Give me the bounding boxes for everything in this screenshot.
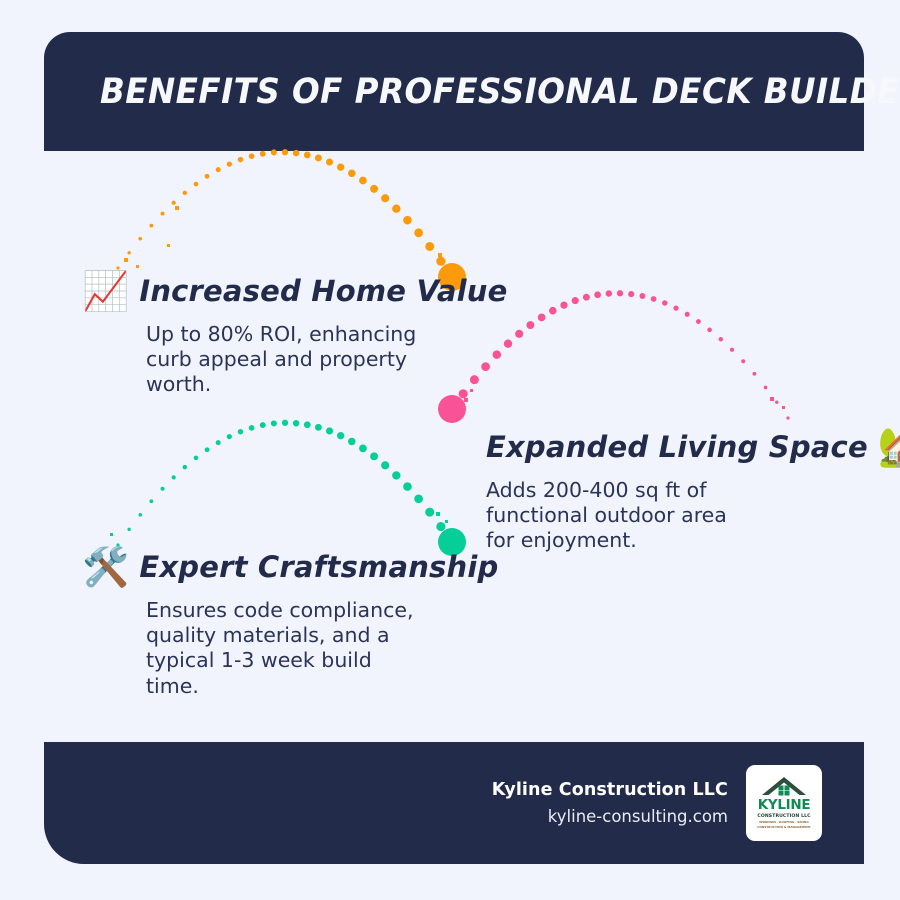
arc-dot (149, 224, 153, 228)
confetti-speck (124, 258, 128, 262)
benefit-title: Increased Home Value (139, 274, 507, 308)
arc-dot (348, 170, 356, 178)
confetti-speck (445, 520, 448, 523)
arc-dot (161, 212, 165, 216)
arc-dot (326, 427, 333, 434)
arc-dot (149, 499, 153, 503)
benefit-description: Ensures code compliance, quality materia… (146, 598, 431, 699)
arc-dot (560, 301, 567, 308)
arc-dot (392, 471, 400, 479)
confetti-speck (464, 398, 468, 402)
arc-dot (348, 438, 356, 446)
arc-dot (183, 465, 187, 469)
footer-banner: Kyline Construction LLC kyline-consultin… (44, 742, 864, 864)
footer-text-group: Kyline Construction LLC kyline-consultin… (492, 780, 728, 826)
arc-dot (315, 424, 322, 431)
arc-dot (194, 456, 199, 461)
arc-dot (572, 297, 579, 304)
arc-dot (425, 508, 434, 517)
arc-dot (304, 152, 311, 159)
arc-dot (205, 447, 210, 452)
header-banner: BENEFITS OF PROFESSIONAL DECK BUILDERS (44, 32, 864, 151)
arc-dot (370, 452, 378, 460)
footer-content: Kyline Construction LLC kyline-consultin… (492, 742, 822, 864)
website-url[interactable]: kyline-consulting.com (492, 807, 728, 826)
confetti-speck (167, 244, 170, 247)
arc-dot (337, 163, 344, 170)
arc-dot (370, 185, 378, 193)
logo-name: KYLINE (758, 799, 811, 813)
arc-dot (673, 305, 678, 310)
logo-tagline: CONSTRUCTION & MANAGEMENT (757, 826, 811, 830)
arc-dot (515, 330, 523, 338)
arc-dot (651, 296, 657, 302)
arc-dot (775, 401, 778, 404)
benefit-description: Up to 80% ROI, enhancing curb appeal and… (146, 322, 421, 398)
arc-dot (381, 194, 389, 202)
confetti-speck (175, 206, 179, 210)
arc-dot (359, 177, 367, 185)
arc-dot (249, 425, 255, 431)
arc-orange (116, 149, 466, 291)
arc-dot (227, 161, 232, 166)
infographic-canvas: BENEFITS OF PROFESSIONAL DECK BUILDERS 📈… (0, 0, 900, 900)
arc-dot (381, 461, 389, 469)
arc-dot (538, 313, 546, 321)
arc-dot (359, 444, 367, 452)
arc-dot (707, 328, 712, 333)
benefit-title: Expert Craftsmanship (139, 550, 498, 584)
benefit-block-expanded-living-space: Expanded Living Space 🏡 Adds 200-400 sq … (486, 428, 900, 554)
benefit-description: Adds 200-400 sq ft of functional outdoor… (486, 478, 756, 554)
chart-increasing-icon: 📈 (82, 272, 129, 310)
company-name: Kyline Construction LLC (492, 780, 728, 800)
arc-dot (249, 153, 255, 159)
confetti-speck (770, 397, 774, 401)
arc-dot (293, 420, 300, 427)
arc-pink-end-marker (438, 395, 466, 423)
arc-dot (326, 158, 333, 165)
arc-dot (628, 291, 634, 297)
benefit-heading: 🛠️ Expert Craftsmanship (82, 548, 498, 586)
arc-dot (161, 487, 165, 491)
arc-dot (719, 337, 723, 341)
arc-dot (183, 191, 187, 195)
arc-dot (194, 182, 199, 187)
arc-dot (436, 522, 445, 531)
hammer-and-wrench-icon: 🛠️ (82, 548, 129, 586)
arc-dot (414, 228, 423, 237)
arc-dot (662, 300, 667, 305)
house-with-garden-icon: 🏡 (878, 428, 900, 466)
arc-dot (172, 201, 176, 205)
arc-dot (315, 155, 322, 162)
arc-dot (685, 312, 690, 317)
arc-dot (403, 216, 412, 225)
arc-dot (639, 293, 645, 299)
arc-dot (238, 157, 243, 162)
arc-dot (414, 494, 423, 503)
arc-dot (337, 432, 344, 439)
arc-dot (436, 257, 445, 266)
arc-dot (271, 420, 277, 426)
confetti-speck (438, 253, 442, 257)
arc-dot (752, 372, 756, 376)
arc-dot (260, 422, 266, 428)
confetti-speck (436, 512, 440, 516)
arc-dot (696, 319, 701, 324)
page-title: BENEFITS OF PROFESSIONAL DECK BUILDERS (100, 72, 900, 112)
arc-dot (526, 321, 534, 329)
arc-dot (583, 294, 590, 301)
page-title-text: BENEFITS OF PROFESSIONAL DECK BUILDERS (100, 72, 900, 112)
arc-dot (617, 290, 623, 296)
confetti-speck (110, 533, 113, 536)
benefit-block-increased-home-value: 📈 Increased Home Value Up to 80% ROI, en… (82, 272, 507, 398)
company-logo: KYLINE CONSTRUCTION LLC WINDOWS · ROOFIN… (746, 765, 822, 841)
arc-dot (260, 151, 266, 157)
arc-dot (549, 307, 557, 315)
arc-dot (425, 242, 434, 251)
arc-dot (172, 475, 176, 479)
arc-teal (116, 420, 466, 556)
arc-dot (216, 440, 221, 445)
confetti-speck (136, 265, 139, 268)
benefit-block-expert-craftsmanship: 🛠️ Expert Craftsmanship Ensures code com… (82, 548, 498, 699)
arc-dot (403, 482, 412, 491)
arc-dot (138, 237, 142, 241)
arc-dot (764, 386, 768, 390)
arc-dot (741, 359, 745, 363)
arc-dot (127, 251, 130, 254)
arc-dot (304, 421, 311, 428)
arc-dot (786, 416, 789, 419)
arc-dot (730, 348, 734, 352)
arc-dot (238, 429, 243, 434)
arc-dot (594, 291, 601, 298)
logo-roof-icon (761, 776, 807, 798)
arc-dot (282, 420, 288, 426)
arc-dot (216, 167, 221, 172)
arc-dot (127, 528, 130, 531)
arc-dot (227, 434, 232, 439)
arc-dot (205, 174, 210, 179)
arc-dot (138, 513, 142, 517)
benefit-heading: Expanded Living Space 🏡 (486, 428, 900, 466)
arc-dot (392, 205, 400, 213)
benefit-title: Expanded Living Space (486, 430, 868, 464)
confetti-speck (782, 406, 785, 409)
benefit-heading: 📈 Increased Home Value (82, 272, 507, 310)
arc-dot (606, 290, 613, 297)
